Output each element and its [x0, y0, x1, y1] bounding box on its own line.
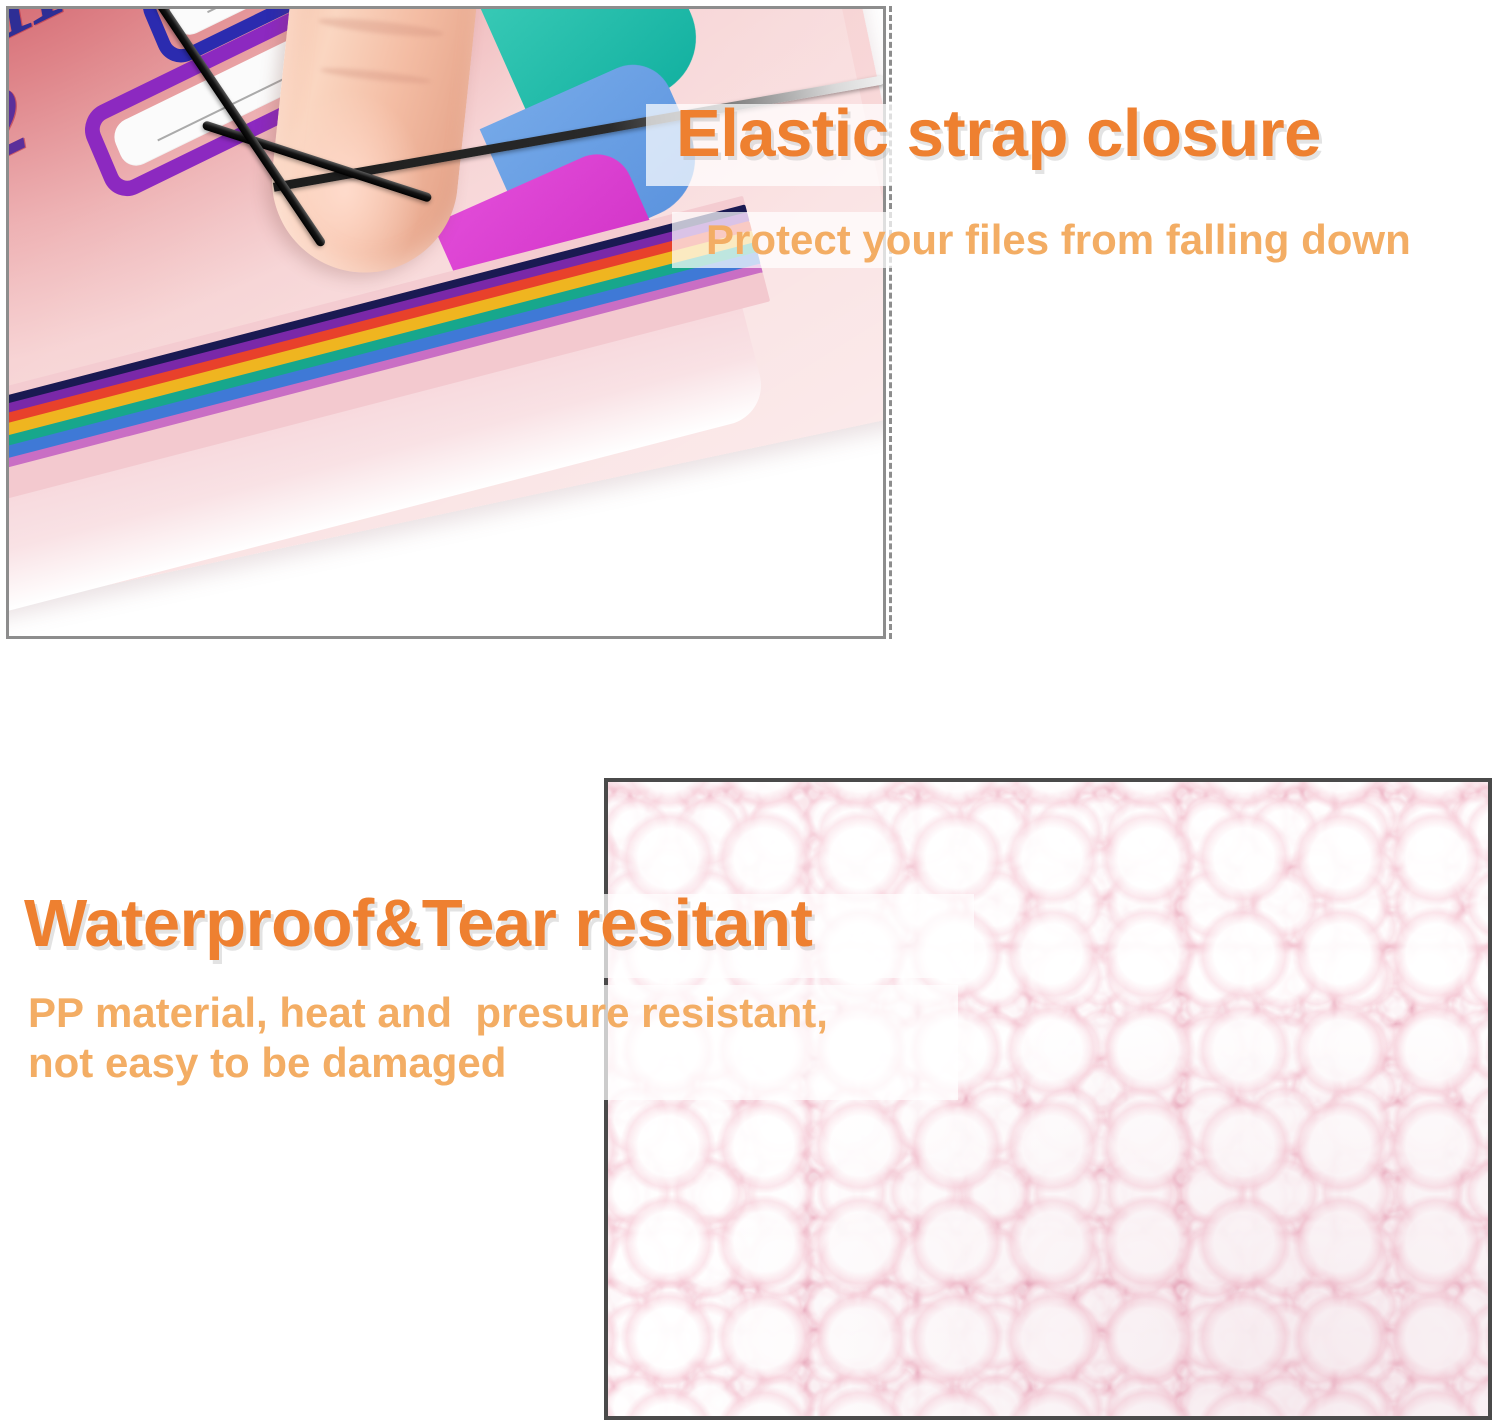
finger-crease: [320, 66, 432, 87]
water-surface-shading: [608, 782, 1488, 1416]
finger-crease: [317, 15, 444, 40]
subhead-elastic-strap: Protect your files from falling down: [706, 215, 1411, 265]
headline-waterproof: Waterproof&Tear resitant: [24, 890, 812, 957]
subhead-waterproof-line-2: not easy to be damaged: [28, 1039, 506, 1086]
headline-elastic-strap: Elastic strap closure: [676, 100, 1321, 167]
subhead-waterproof: PP material, heat and presure resistant,…: [28, 988, 828, 1087]
subhead-waterproof-line-1: PP material, heat and presure resistant,: [28, 989, 828, 1036]
feature-image-waterproof: [604, 778, 1492, 1420]
